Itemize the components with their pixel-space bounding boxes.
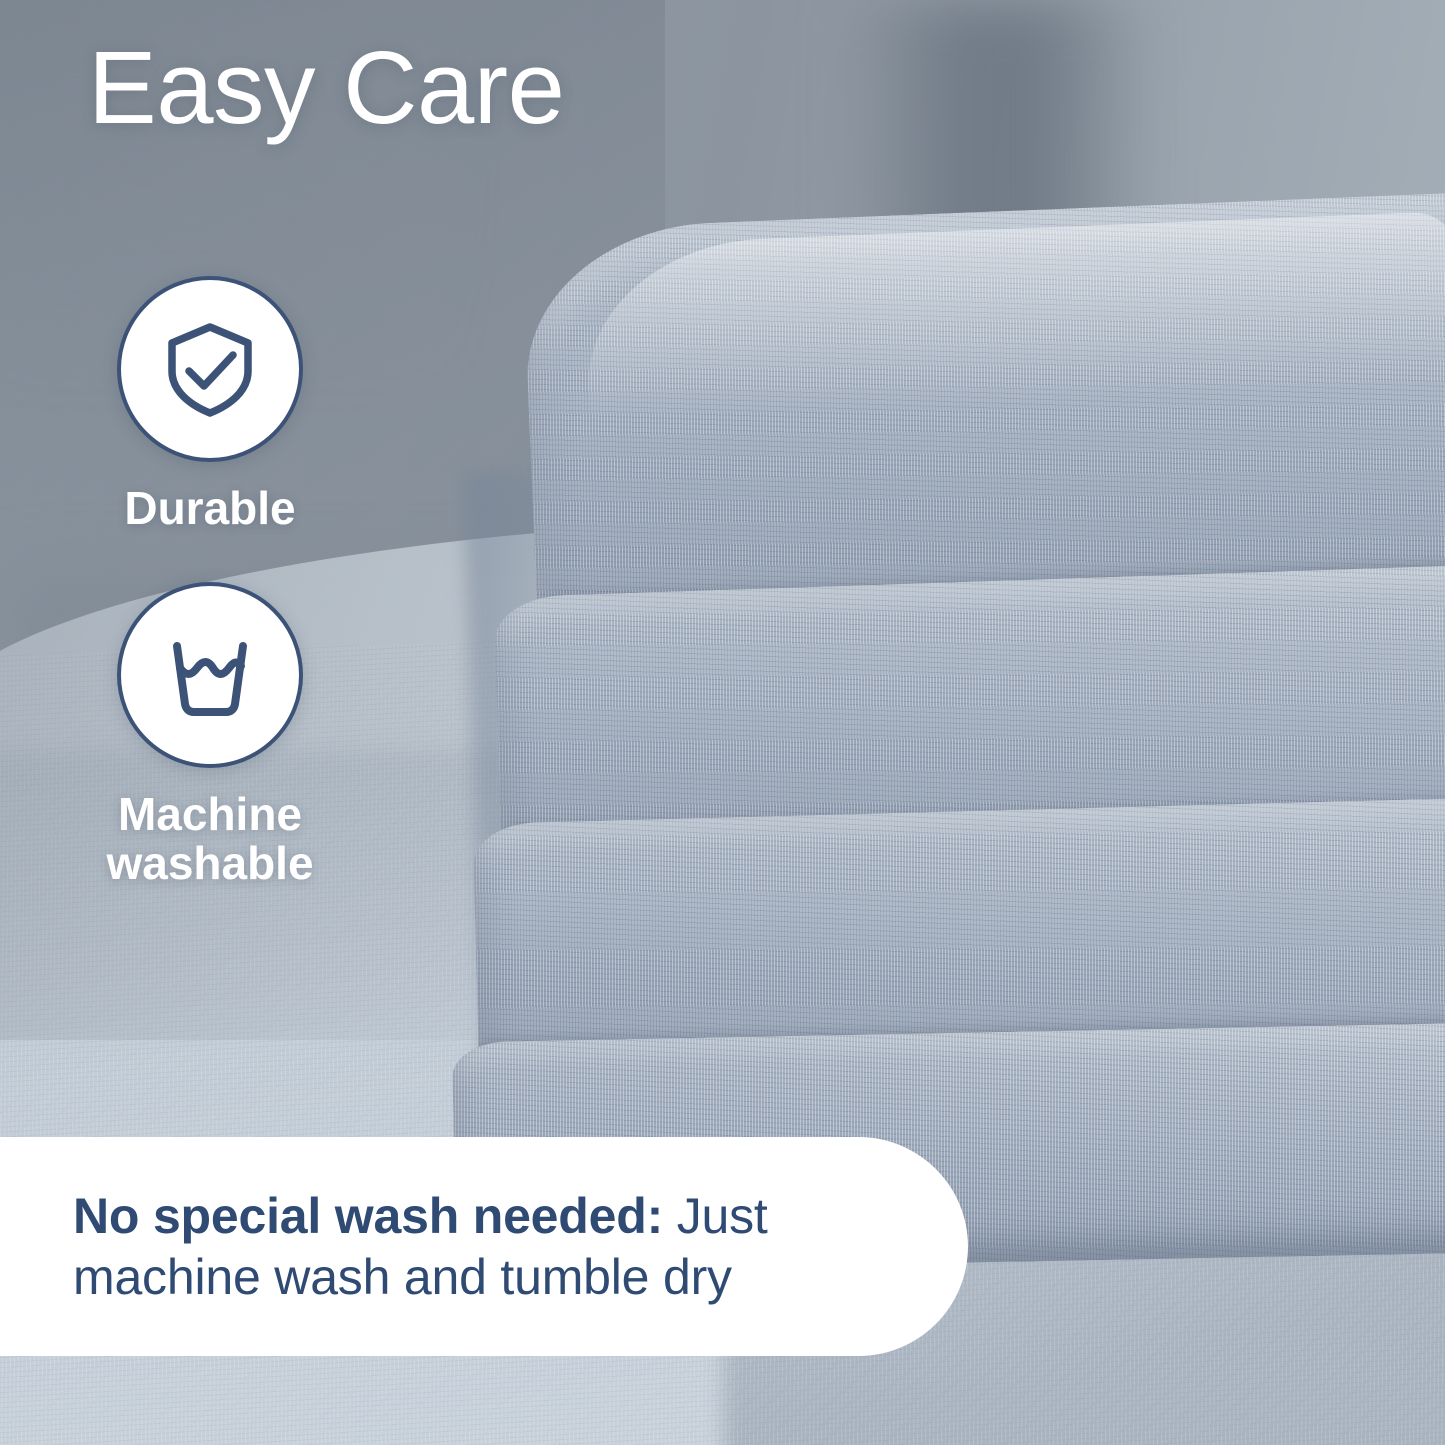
folded-sheet-stack [380,170,1445,1240]
caption-text: No special wash needed: Just machine was… [0,1186,968,1308]
feature-label-durable: Durable [124,484,295,534]
wash-tub-icon-badge [117,582,303,768]
shield-check-icon-badge [117,276,303,462]
feature-label-machine-washable: Machine washable [106,790,313,889]
feature-list: Durable Machine washable [60,276,360,889]
caption-bold-part: No special wash needed: [73,1188,663,1244]
feature-label-line-2: washable [106,837,313,889]
page-title: Easy Care [88,36,564,139]
wash-tub-icon [155,620,265,730]
feature-item-machine-washable: Machine washable [60,582,360,889]
feature-item-durable: Durable [60,276,360,534]
caption-banner: No special wash needed: Just machine was… [0,1137,968,1356]
feature-label-line-1: Machine [118,788,302,840]
shield-check-icon [156,315,264,423]
product-feature-card: Easy Care Durable [0,0,1445,1445]
